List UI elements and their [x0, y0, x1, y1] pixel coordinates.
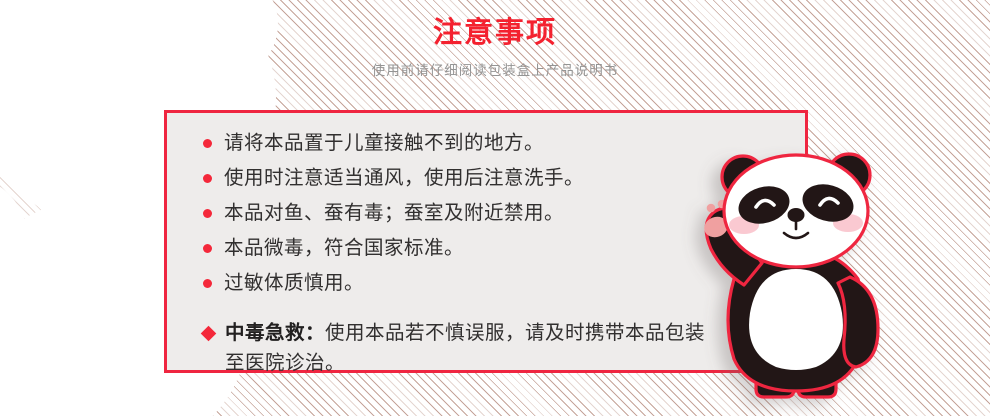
list-item: 本品对鱼、蚕有毒；蚕室及附近禁用。: [203, 199, 805, 228]
notice-text: 本品微毒，符合国家标准。: [224, 234, 464, 263]
notice-text: 使用时注意适当通风，使用后注意洗手。: [224, 164, 584, 193]
emergency-notice: 中毒急救：使用本品若不慎误服，请及时携带本品包装至医院诊治。: [203, 318, 805, 378]
notice-banner: 注意事项 使用前请仔细阅读包装盒上产品说明书 请将本品置于儿童接触不到的地方。 …: [0, 0, 990, 416]
list-item: 请将本品置于儿童接触不到的地方。: [203, 129, 805, 158]
list-item: 过敏体质慎用。: [203, 269, 805, 298]
notice-text: 本品对鱼、蚕有毒；蚕室及附近禁用。: [224, 199, 564, 228]
notice-panel: 请将本品置于儿童接触不到的地方。 使用时注意适当通风，使用后注意洗手。 本品对鱼…: [164, 110, 808, 373]
diamond-bullet-icon: [201, 326, 217, 342]
dot-bullet-icon: [203, 244, 212, 253]
dot-bullet-icon: [203, 209, 212, 218]
notice-list: 请将本品置于儿童接触不到的地方。 使用时注意适当通风，使用后注意洗手。 本品对鱼…: [203, 129, 805, 298]
emergency-body: 中毒急救：使用本品若不慎误服，请及时携带本品包装至医院诊治。: [225, 318, 720, 378]
dot-bullet-icon: [203, 279, 212, 288]
dot-bullet-icon: [203, 139, 212, 148]
list-item: 本品微毒，符合国家标准。: [203, 234, 805, 263]
emergency-label: 中毒急救：: [225, 322, 325, 344]
list-item: 使用时注意适当通风，使用后注意洗手。: [203, 164, 805, 193]
dot-bullet-icon: [203, 174, 212, 183]
notice-text: 过敏体质慎用。: [224, 269, 364, 298]
notice-text: 请将本品置于儿童接触不到的地方。: [224, 129, 544, 158]
